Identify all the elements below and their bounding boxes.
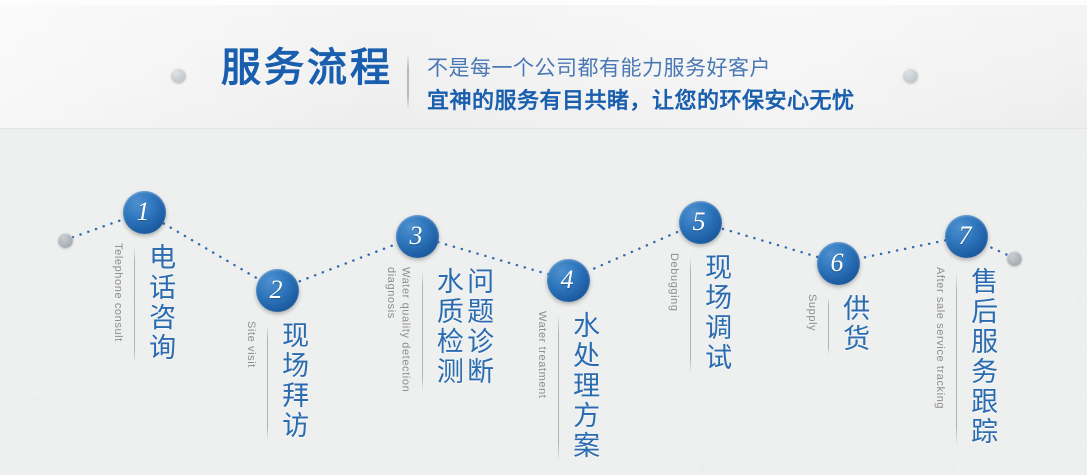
flow-node-4[interactable]: 4 xyxy=(547,259,590,302)
flow-label-cn-column: 现场拜访 xyxy=(277,321,307,441)
flow-label-6: Supply供货 xyxy=(804,294,868,354)
flow-node-number: 2 xyxy=(270,277,285,303)
flow-label-en-line: After sale service tracking xyxy=(932,267,947,409)
flow-label-2: Site visit现场拜访 xyxy=(243,321,307,441)
flow-label-separator xyxy=(690,257,691,373)
flow-label-en-line: Supply xyxy=(804,294,819,331)
header-subtitle-line1: 不是每一个公司都有能力服务好客户 xyxy=(427,58,771,79)
flow-label-separator xyxy=(828,298,829,354)
flow-label-7: After sale service tracking售后服务跟踪 xyxy=(932,267,996,447)
flow-label-4: Water treatment水处理方案 xyxy=(534,311,598,461)
header-divider xyxy=(407,54,409,110)
flow-node-7[interactable]: 7 xyxy=(945,215,988,258)
flow-node-number: 1 xyxy=(137,199,152,225)
flow-label-en-6: Supply xyxy=(804,294,819,331)
flow-endpoint-start xyxy=(58,233,73,248)
flow-node-1[interactable]: 1 xyxy=(123,191,166,234)
flow-label-cn-column: 水处理方案 xyxy=(568,311,598,461)
flow-label-3: diagnosisWater quality detection水质检测问题诊断 xyxy=(383,267,492,392)
flow-label-separator xyxy=(267,325,268,441)
flow-node-2[interactable]: 2 xyxy=(256,269,299,312)
flow-node-3[interactable]: 3 xyxy=(396,215,439,258)
flow-label-cn-column: 售后服务跟踪 xyxy=(966,267,996,447)
flow-node-5[interactable]: 5 xyxy=(679,201,722,244)
flow-label-separator xyxy=(134,247,135,363)
flow-label-en-3: diagnosisWater quality detection xyxy=(383,267,413,392)
flow-label-cn-5: 现场调试 xyxy=(700,253,730,373)
flow-label-1: Telephone consult电话咨询 xyxy=(110,243,174,363)
flow-label-en-4: Water treatment xyxy=(534,311,549,398)
flow-label-en-2: Site visit xyxy=(243,321,258,368)
flow-label-en-1: Telephone consult xyxy=(110,243,125,342)
flow-label-en-5: Debugging xyxy=(666,253,681,312)
page-title: 服务流程 xyxy=(221,48,393,88)
flow-label-en-line: Water quality detection xyxy=(398,267,413,392)
process-flow: 1234567 Telephone consult电话咨询Site visit现… xyxy=(0,128,1087,475)
flow-label-separator xyxy=(956,271,957,447)
flow-label-cn-7: 售后服务跟踪 xyxy=(966,267,996,447)
infographic-canvas: 服务流程 不是每一个公司都有能力服务好客户 宜神的服务有目共睹，让您的环保安心无… xyxy=(0,0,1087,475)
rivet-icon-right xyxy=(903,68,918,83)
flow-label-cn-4: 水处理方案 xyxy=(568,311,598,461)
flow-node-number: 7 xyxy=(959,223,974,249)
flow-node-number: 4 xyxy=(561,267,576,293)
flow-label-en-line: Debugging xyxy=(666,253,681,312)
flow-label-separator xyxy=(558,315,559,461)
flow-label-cn-column: 水质检测 xyxy=(432,267,462,387)
flow-label-cn-1: 电话咨询 xyxy=(144,243,174,363)
flow-label-5: Debugging现场调试 xyxy=(666,253,730,373)
flow-label-en-line: diagnosis xyxy=(383,267,398,392)
flow-label-cn-column: 供货 xyxy=(838,294,868,354)
flow-label-en-line: Telephone consult xyxy=(110,243,125,342)
flow-label-separator xyxy=(422,271,423,392)
flow-node-number: 6 xyxy=(831,250,846,276)
flow-label-cn-2: 现场拜访 xyxy=(277,321,307,441)
flow-label-en-7: After sale service tracking xyxy=(932,267,947,409)
flow-node-number: 5 xyxy=(693,209,708,235)
flow-label-cn-column: 电话咨询 xyxy=(144,243,174,363)
flow-label-cn-3: 水质检测问题诊断 xyxy=(432,267,492,387)
flow-label-en-line: Water treatment xyxy=(534,311,549,398)
flow-node-6[interactable]: 6 xyxy=(817,242,860,285)
flow-label-en-line: Site visit xyxy=(243,321,258,368)
flow-label-cn-column: 问题诊断 xyxy=(462,267,492,387)
flow-endpoint-end xyxy=(1007,251,1022,266)
header-subtitle-line2: 宜神的服务有目共睹，让您的环保安心无忧 xyxy=(427,90,855,112)
flow-node-number: 3 xyxy=(410,223,425,249)
flow-label-cn-column: 现场调试 xyxy=(700,253,730,373)
flow-label-cn-6: 供货 xyxy=(838,294,868,354)
rivet-icon-left xyxy=(171,68,186,83)
